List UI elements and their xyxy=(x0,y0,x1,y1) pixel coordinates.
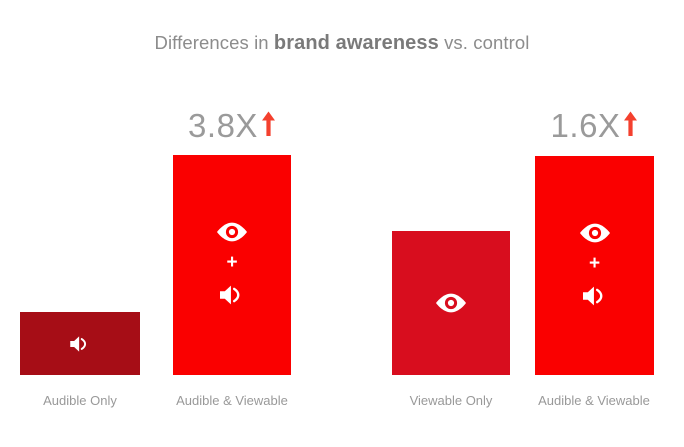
value-label-3-8x: 3.8X xyxy=(173,103,291,149)
bar-audible-and-viewable-right[interactable]: + xyxy=(535,156,654,375)
plus-icon: + xyxy=(589,254,600,273)
arrow-up-icon xyxy=(261,107,276,145)
category-label-viewable-only: Viewable Only xyxy=(381,393,521,408)
category-label-audible-only: Audible Only xyxy=(10,393,150,408)
speaker-icon xyxy=(67,331,93,357)
bar-audible-and-viewable-right-icons: + xyxy=(535,211,654,321)
bar-viewable-only[interactable] xyxy=(392,231,510,375)
bar-audible-only-icons xyxy=(20,312,140,375)
plot-area: + xyxy=(0,0,684,447)
value-label-1-6x: 1.6X xyxy=(535,103,654,149)
arrow-up-icon xyxy=(623,107,638,145)
category-label-audible-and-viewable-left: Audible & Viewable xyxy=(162,393,302,408)
speaker-icon xyxy=(579,280,611,312)
plus-icon: + xyxy=(226,253,237,272)
bar-audible-and-viewable-left[interactable]: + xyxy=(173,155,291,375)
bar-viewable-only-icons xyxy=(392,231,510,375)
bar-audible-and-viewable-left-icons: + xyxy=(173,210,291,320)
category-label-audible-and-viewable-right: Audible & Viewable xyxy=(524,393,664,408)
value-label-3-8x-text: 3.8X xyxy=(188,107,258,145)
brand-awareness-chart: Differences in brand awareness vs. contr… xyxy=(0,0,684,447)
eye-icon xyxy=(577,221,613,245)
bar-audible-only[interactable] xyxy=(20,312,140,375)
eye-icon xyxy=(433,291,469,315)
eye-icon xyxy=(214,220,250,244)
value-label-1-6x-text: 1.6X xyxy=(551,107,621,145)
speaker-icon xyxy=(216,279,248,311)
